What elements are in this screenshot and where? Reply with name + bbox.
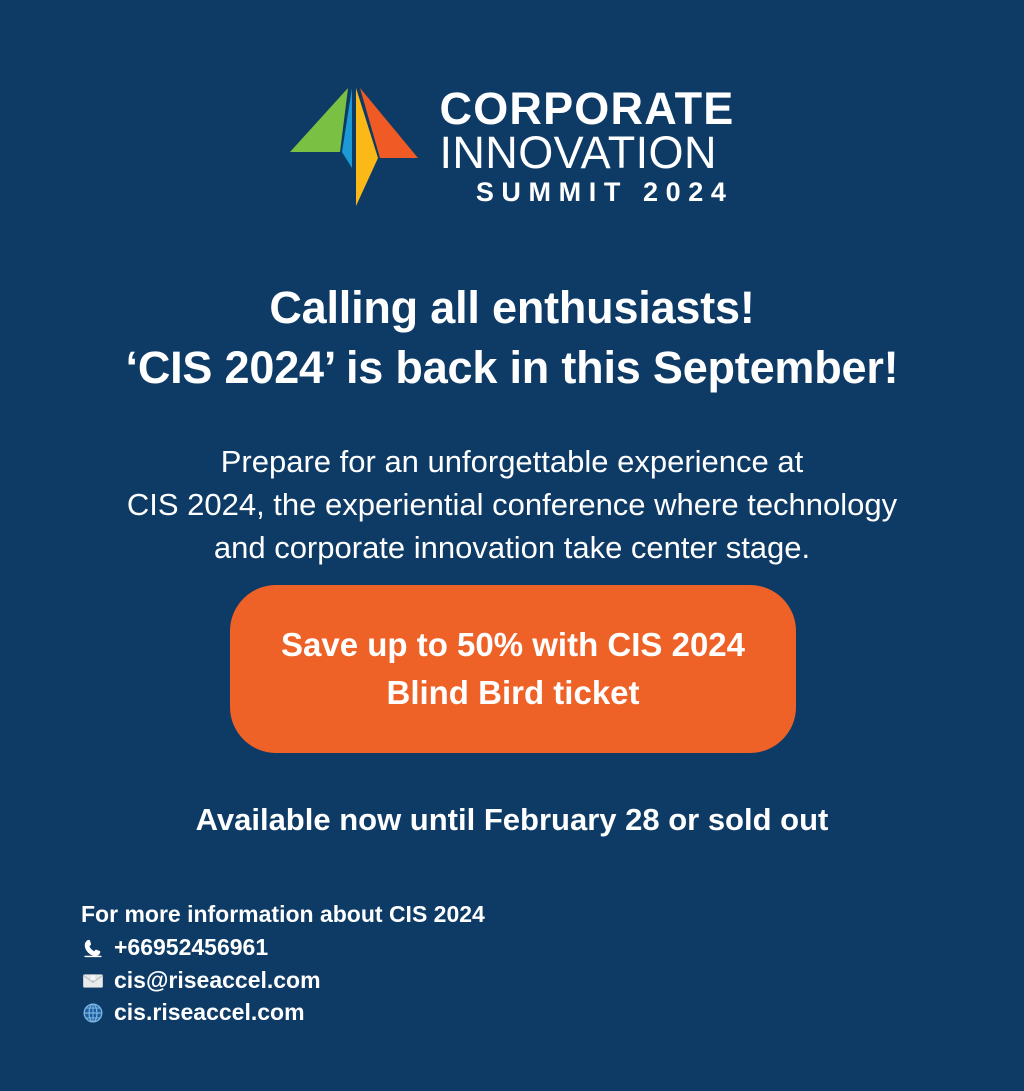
cta-line-1: Save up to 50% with CIS 2024 <box>281 621 745 669</box>
cis-arrow-mark-icon <box>290 86 418 208</box>
logo-line-corporate: CORPORATE <box>440 88 735 131</box>
contact-website[interactable]: cis.riseaccel.com <box>81 998 641 1027</box>
logo-line-innovation: INNOVATION <box>440 130 735 175</box>
body-copy-line-2: CIS 2024, the experiential conference wh… <box>0 484 1024 527</box>
telephone-icon <box>81 936 105 960</box>
contact-phone-value: +66952456961 <box>114 933 268 962</box>
promo-poster: CORPORATE INNOVATION SUMMIT 2024 Calling… <box>0 0 1024 1091</box>
contact-email-value: cis@riseaccel.com <box>114 966 321 995</box>
body-copy-line-1: Prepare for an unforgettable experience … <box>0 441 1024 484</box>
headline: Calling all enthusiasts! ‘CIS 2024’ is b… <box>0 278 1024 397</box>
event-logo: CORPORATE INNOVATION SUMMIT 2024 <box>0 84 1024 208</box>
body-copy: Prepare for an unforgettable experience … <box>0 441 1024 569</box>
logo-wordmark: CORPORATE INNOVATION SUMMIT 2024 <box>440 88 735 207</box>
availability-note: Available now until February 28 or sold … <box>0 802 1024 838</box>
logo-line-summit-2024: SUMMIT 2024 <box>440 178 735 208</box>
blind-bird-ticket-cta-button[interactable]: Save up to 50% with CIS 2024 Blind Bird … <box>230 585 796 753</box>
cta-line-2: Blind Bird ticket <box>386 669 639 717</box>
contact-website-value: cis.riseaccel.com <box>114 998 305 1027</box>
globe-icon <box>81 1001 105 1025</box>
body-copy-line-3: and corporate innovation take center sta… <box>0 527 1024 570</box>
contact-phone[interactable]: +66952456961 <box>81 933 641 962</box>
headline-line-1: Calling all enthusiasts! <box>0 278 1024 337</box>
contact-title: For more information about CIS 2024 <box>81 900 641 929</box>
envelope-icon <box>81 969 105 993</box>
contact-block: For more information about CIS 2024 +669… <box>81 900 641 1031</box>
headline-line-2: ‘CIS 2024’ is back in this September! <box>0 338 1024 397</box>
contact-email[interactable]: cis@riseaccel.com <box>81 966 641 995</box>
